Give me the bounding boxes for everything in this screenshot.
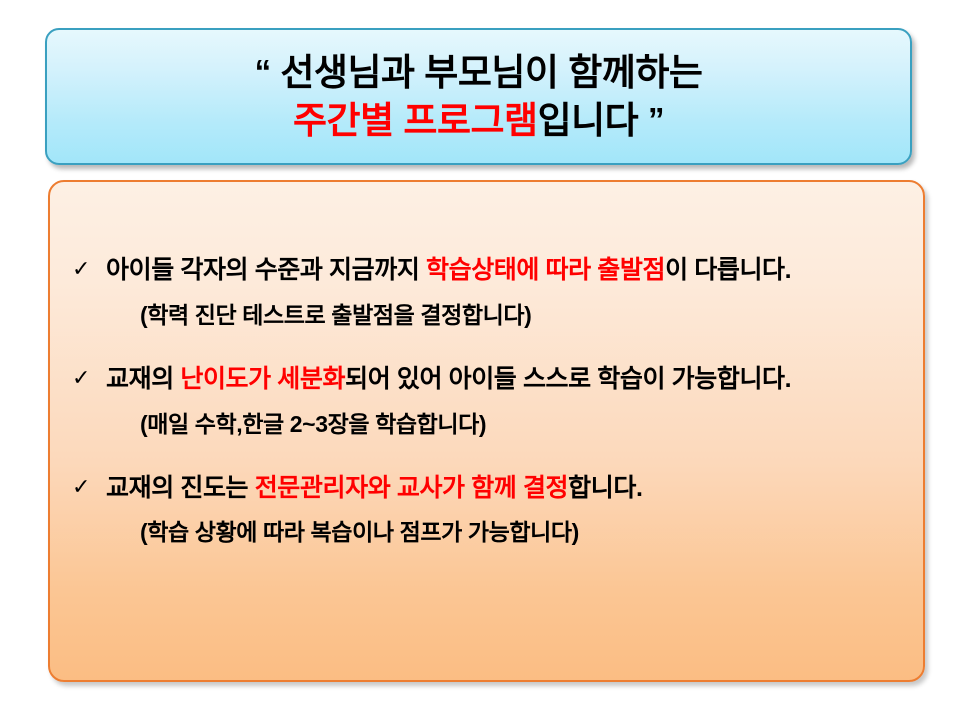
bullet-item-2: ✓ 교재의 난이도가 세분화되어 있어 아이들 스스로 학습이 가능합니다. (… [60,363,903,439]
title-highlight-text: 주간별 프로그램 [293,100,538,141]
bullet-2-seg-3: 되어 있어 아이들 스스로 학습이 가능합니다. [345,365,791,393]
bullet-1-main-line: ✓ 아이들 각자의 수준과 지금까지 학습상태에 따라 출발점이 다릅니다. [60,254,903,288]
bullet-1-subtext: (학력 진단 테스트로 출발점을 결정합니다) [140,296,903,330]
bullet-1-seg-2: 학습상태에 따라 출발점 [426,256,665,284]
bullet-1-seg-1: 아이들 각자의 수준과 지금까지 [106,256,426,284]
check-icon: ✓ [72,254,106,285]
bullet-2-text: 교재의 난이도가 세분화되어 있어 아이들 스스로 학습이 가능합니다. [106,363,791,397]
bullet-2-subtext: (매일 수학,한글 2~3장을 학습합니다) [140,405,903,439]
check-icon: ✓ [72,363,106,394]
title-line-1-text: 선생님과 부모님이 함께하는 [271,52,703,93]
bullet-2-seg-2: 난이도가 세분화 [180,365,345,393]
bullet-1-seg-3: 이 다릅니다. [665,256,791,284]
bullet-3-text: 교재의 진도는 전문관리자와 교사가 함께 결정합니다. [106,472,643,506]
bullet-item-1: ✓ 아이들 각자의 수준과 지금까지 학습상태에 따라 출발점이 다릅니다. (… [60,254,903,330]
title-banner: “ 선생님과 부모님이 함께하는 주간별 프로그램입니다 ” [45,28,912,165]
title-line-1: “ 선생님과 부모님이 함께하는 [255,49,703,96]
open-quote: “ [255,53,271,90]
bullet-3-seg-1: 교재의 진도는 [106,474,255,502]
check-icon: ✓ [72,472,106,503]
bullet-3-seg-2: 전문관리자와 교사가 함께 결정 [255,474,568,502]
bullet-item-3: ✓ 교재의 진도는 전문관리자와 교사가 함께 결정합니다. (학습 상황에 따… [60,472,903,548]
bullet-3-seg-3: 합니다. [568,474,642,502]
bullet-3-main-line: ✓ 교재의 진도는 전문관리자와 교사가 함께 결정합니다. [60,472,903,506]
content-panel: ✓ 아이들 각자의 수준과 지금까지 학습상태에 따라 출발점이 다릅니다. (… [48,180,925,682]
title-line-2: 주간별 프로그램입니다 ” [293,97,664,144]
bullet-2-main-line: ✓ 교재의 난이도가 세분화되어 있어 아이들 스스로 학습이 가능합니다. [60,363,903,397]
bullet-3-subtext: (학습 상황에 따라 복습이나 점프가 가능합니다) [140,513,903,547]
bullet-2-seg-1: 교재의 [106,365,180,393]
bullet-1-text: 아이들 각자의 수준과 지금까지 학습상태에 따라 출발점이 다릅니다. [106,254,791,288]
title-line-2-rest: 입니다 [538,100,648,141]
close-quote: ” [648,101,664,138]
